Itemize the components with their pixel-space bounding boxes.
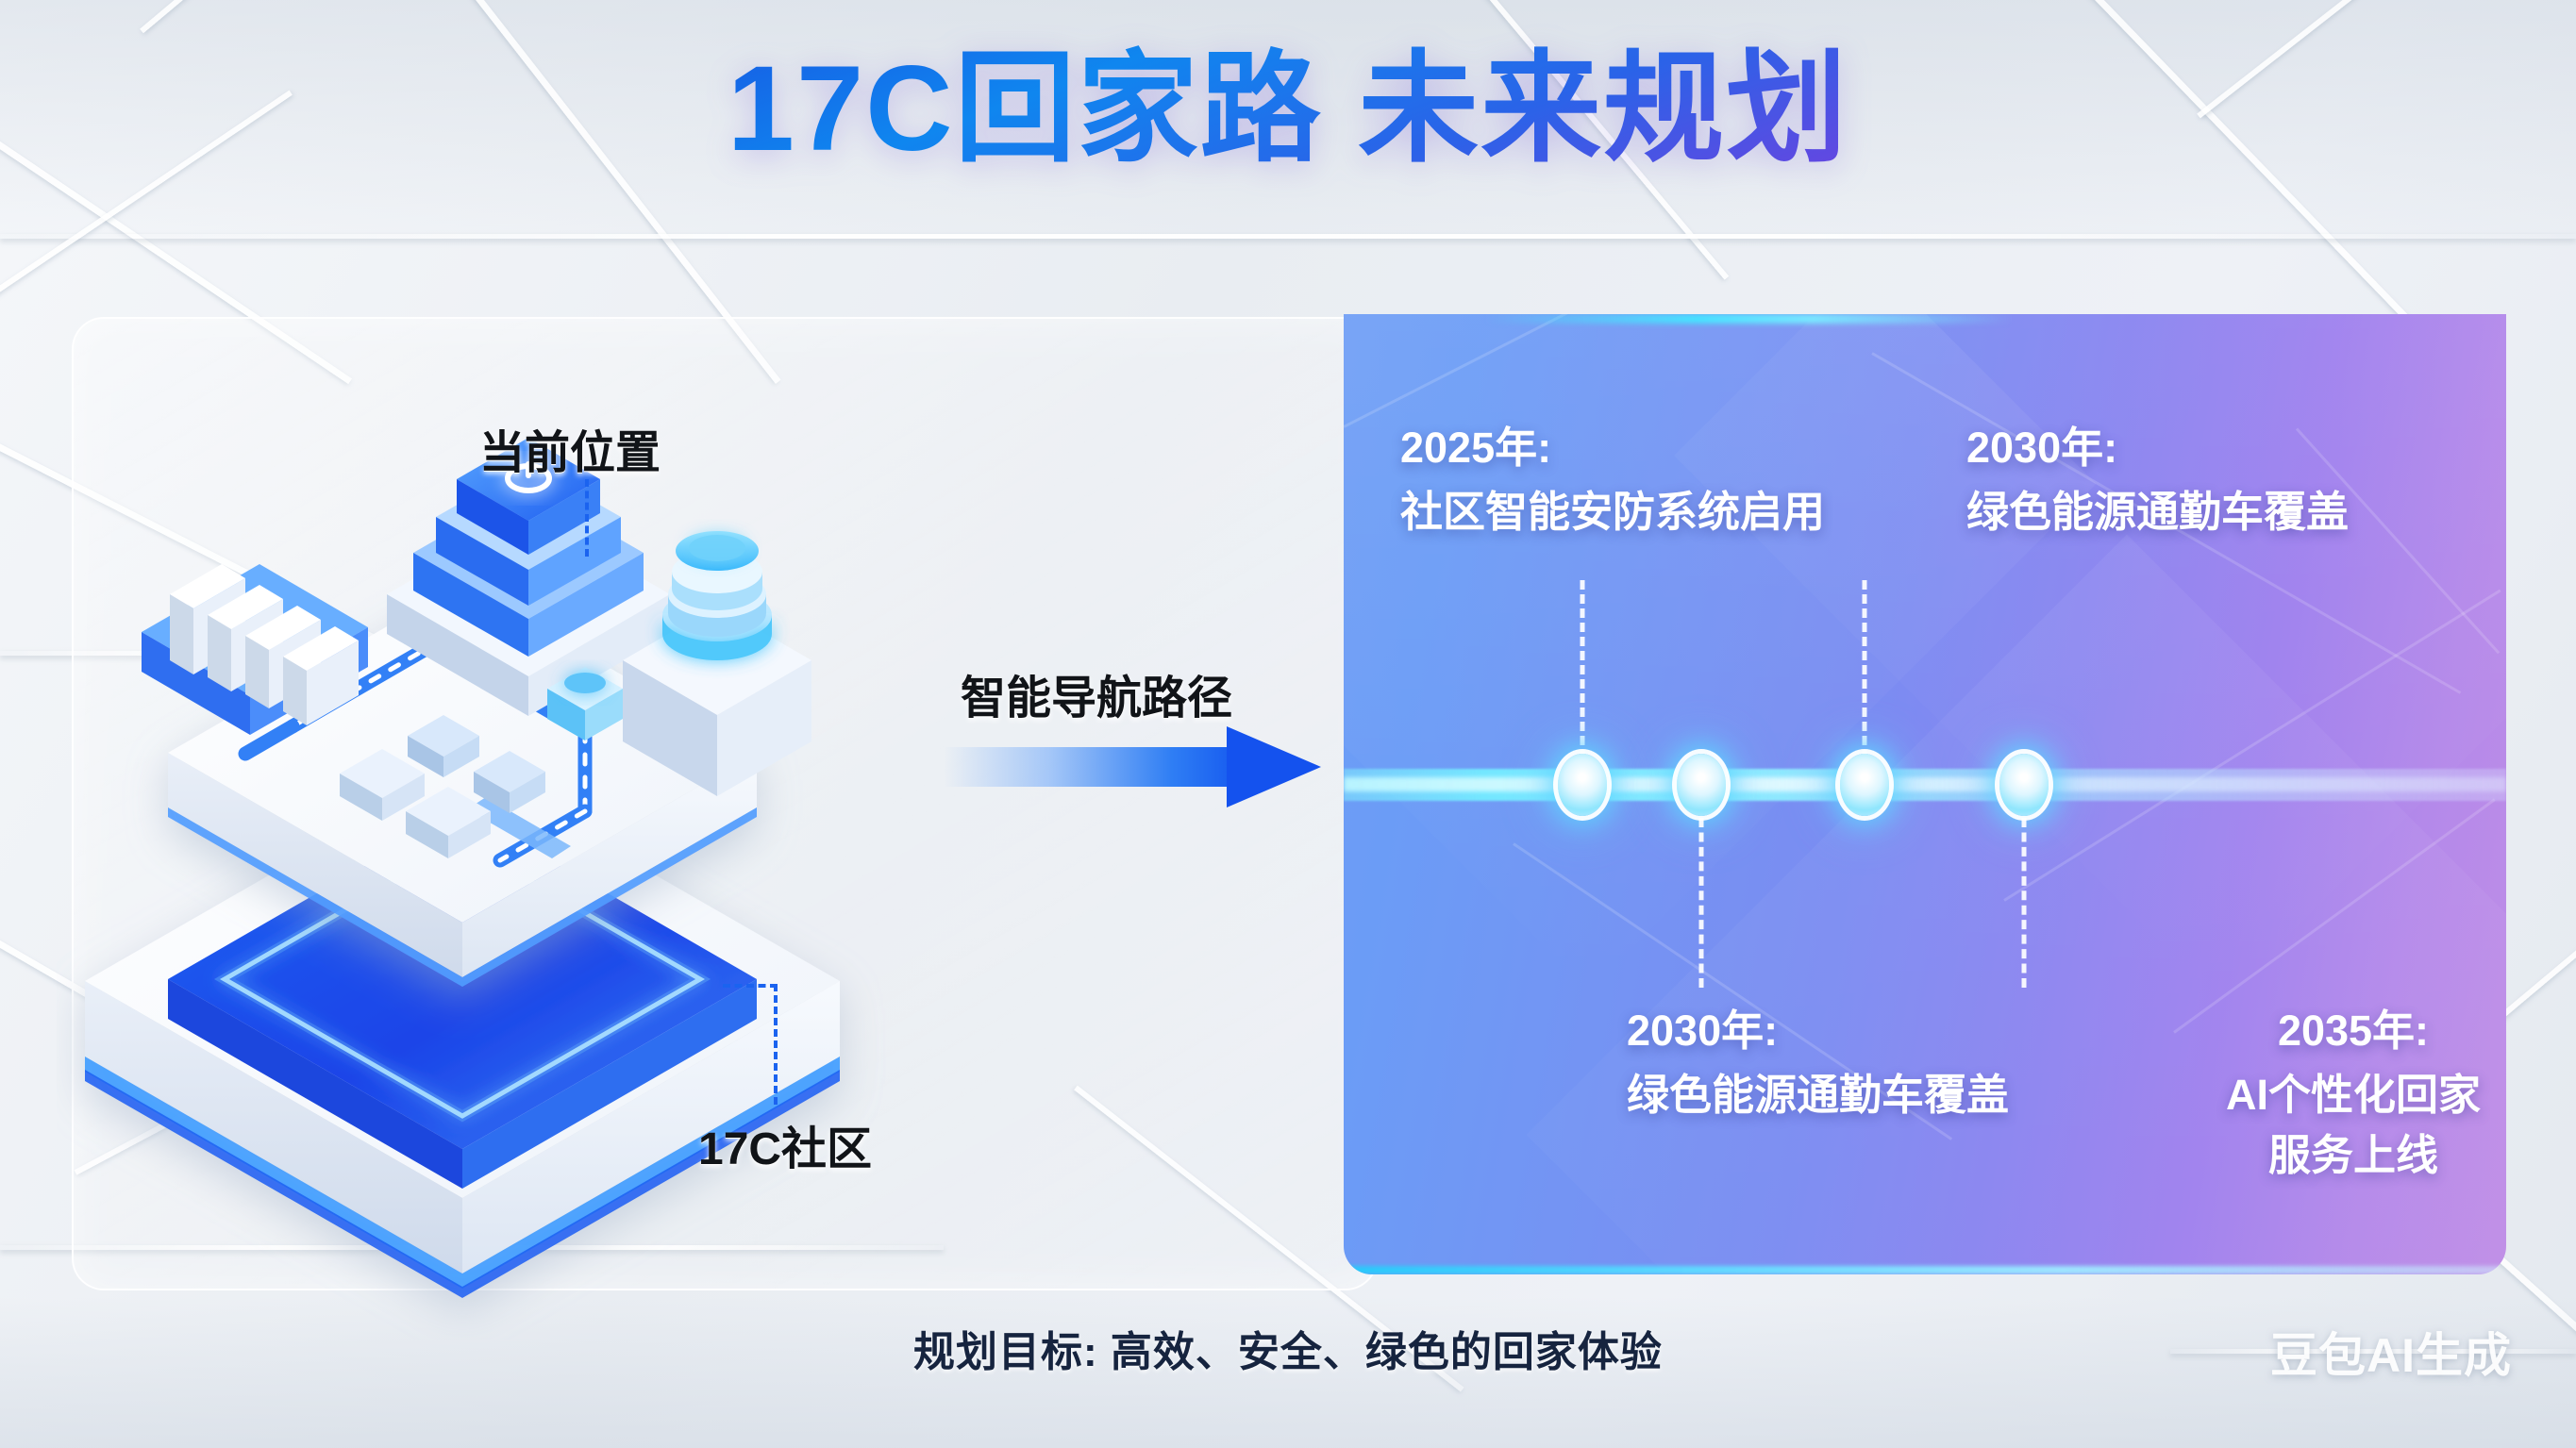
page-title: 17C回家路 未来规划 xyxy=(0,42,2576,176)
community-label: 17C社区 xyxy=(698,1111,872,1177)
current-location-leader xyxy=(585,479,589,557)
timeline-axis xyxy=(1344,769,2506,801)
community-leader-horizontal xyxy=(723,984,778,988)
goal-text: 规划目标: 高效、安全、绿色的回家体验 xyxy=(0,1318,2576,1378)
timeline-connector-1 xyxy=(1699,818,1704,988)
timeline-label-2-desc: 绿色能源通勤车覆盖 xyxy=(1966,482,2506,542)
poster-canvas: 17C回家路 未来规划 xyxy=(0,0,2576,1448)
timeline-label-1-year: 2030年: xyxy=(1627,1001,2042,1061)
timeline-connector-0 xyxy=(1580,580,1584,759)
community-3d-illustration xyxy=(57,396,1095,1340)
timeline-label-1-desc: 绿色能源通勤车覆盖 xyxy=(1627,1065,2212,1125)
timeline-connector-2 xyxy=(1862,580,1866,759)
timeline-node-3[interactable] xyxy=(1999,754,2049,816)
timeline-node-0[interactable] xyxy=(1558,754,1607,816)
timeline-label-3-year: 2035年: xyxy=(2155,1001,2506,1061)
timeline-connector-3 xyxy=(2021,818,2026,988)
timeline-label-3-desc: AI个性化回家 服务上线 xyxy=(2155,1065,2506,1186)
panel-top-glow xyxy=(1485,314,2014,324)
arrow-body xyxy=(944,747,1247,787)
timeline-panel: 2025年: 社区智能安防系统启用 2030年: 绿色能源通勤车覆盖 2030年… xyxy=(1344,314,2506,1274)
timeline-node-2[interactable] xyxy=(1840,754,1889,816)
current-location-label: 当前位置 xyxy=(479,415,661,481)
nav-path-arrow xyxy=(944,726,1321,807)
timeline-label-0-year: 2025年: xyxy=(1400,418,1815,478)
timeline-label-0-desc: 社区智能安防系统启用 xyxy=(1400,482,1966,542)
nav-path-label: 智能导航路径 xyxy=(961,660,1232,726)
timeline-label-2-year: 2030年: xyxy=(1966,418,2382,478)
timeline-node-1[interactable] xyxy=(1677,754,1726,816)
panel-bottom-glow xyxy=(1344,1266,2506,1274)
community-leader-vertical xyxy=(774,984,778,1105)
arrow-head xyxy=(1227,726,1321,807)
watermark: 豆包AI生成 xyxy=(2270,1318,2512,1386)
